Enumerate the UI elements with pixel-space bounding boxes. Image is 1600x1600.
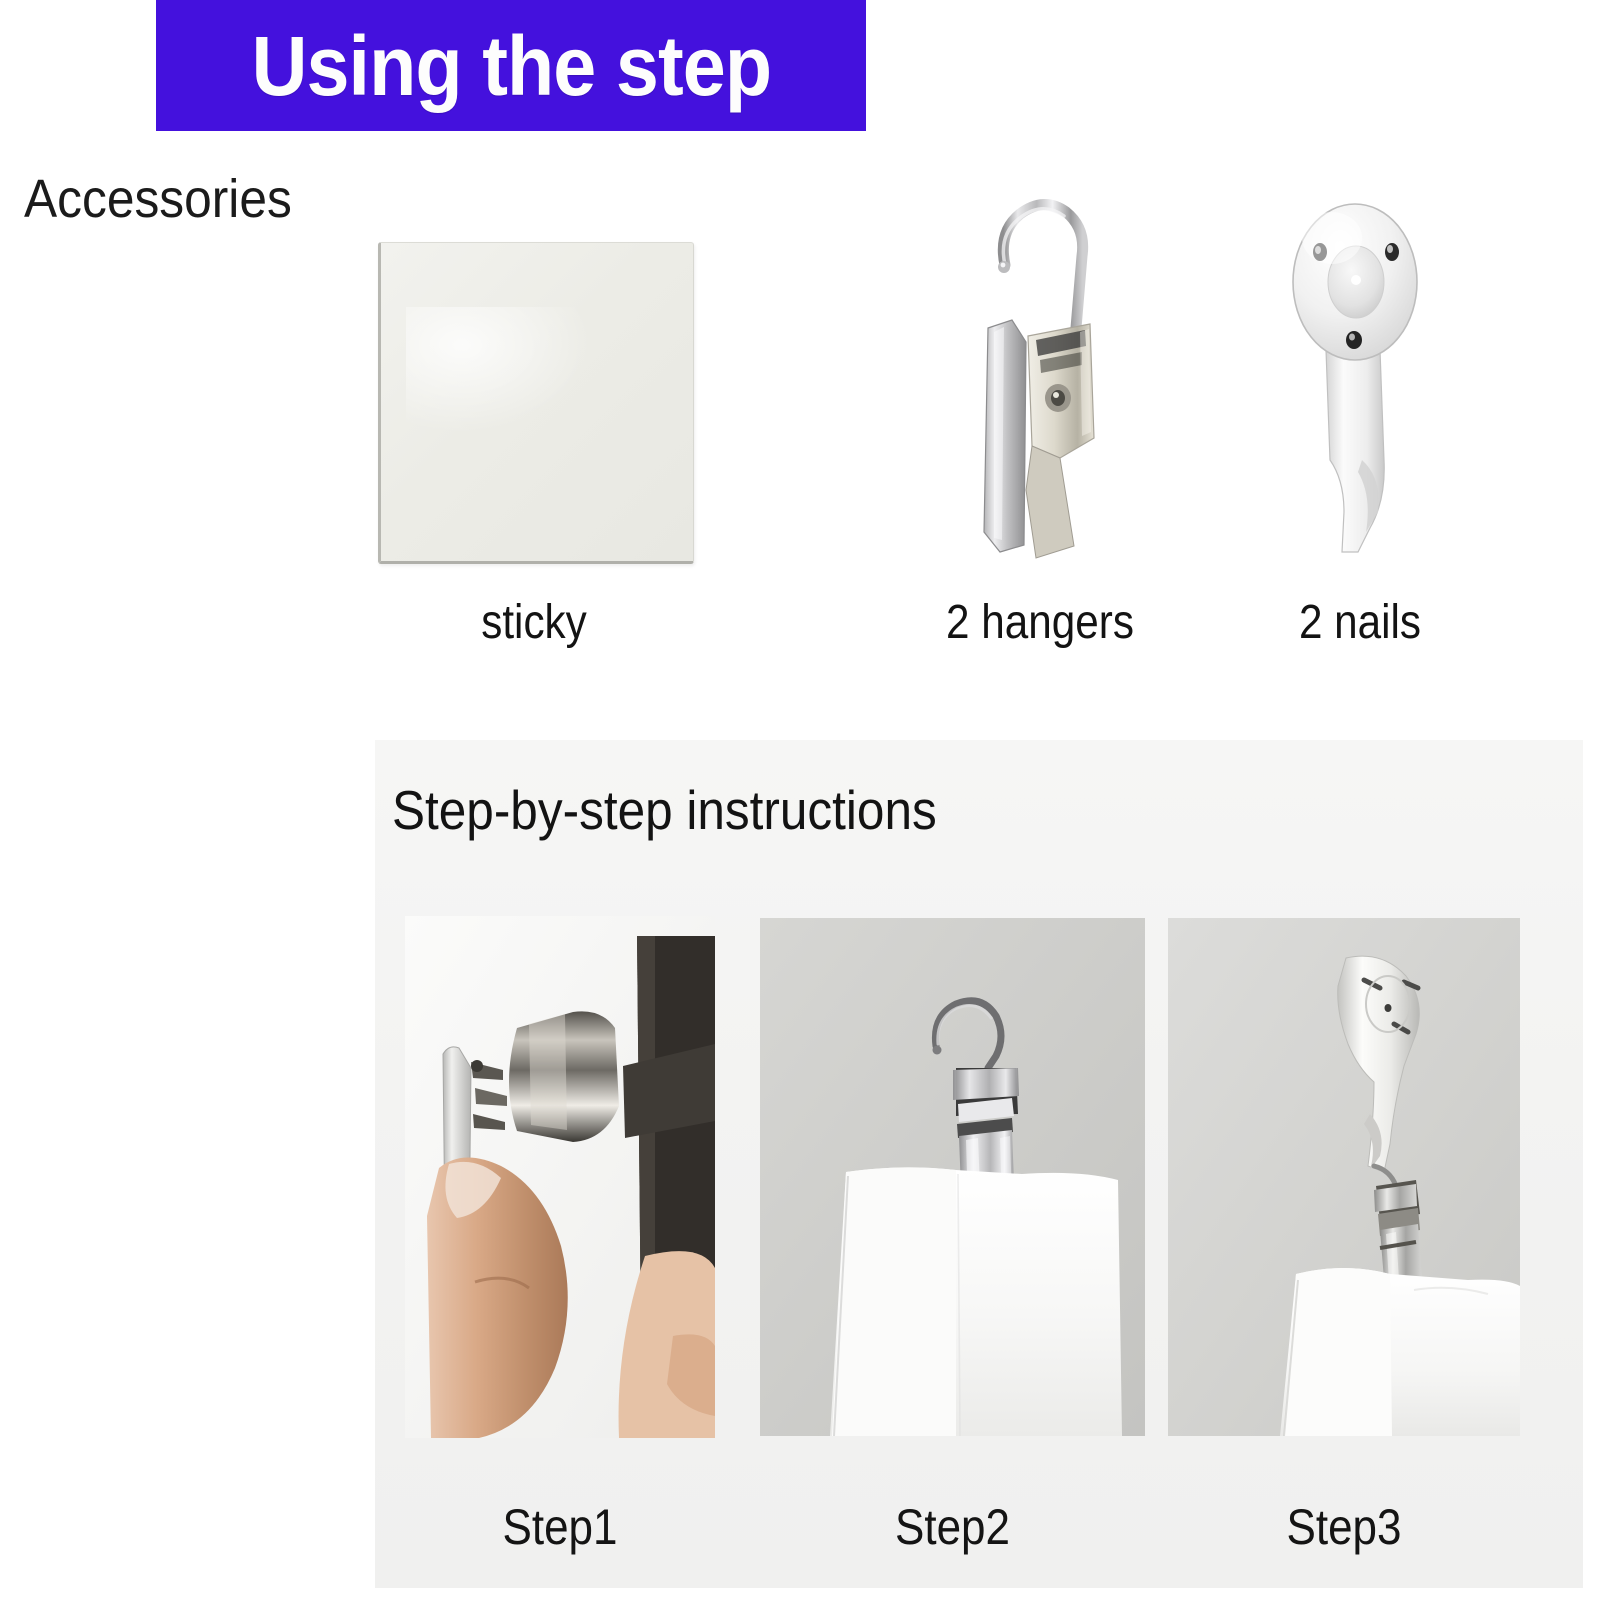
page-title: Using the step xyxy=(251,24,771,108)
accessories-heading: Accessories xyxy=(24,168,292,230)
hanger-clip-icon xyxy=(940,160,1140,560)
sticky-pad-icon xyxy=(378,242,694,564)
accessory-label-nails: 2 nails xyxy=(1259,595,1461,650)
step-label-2: Step2 xyxy=(783,1498,1122,1556)
nail-hook-icon xyxy=(1258,160,1458,560)
step-1-photo xyxy=(405,916,715,1438)
instructions-heading: Step-by-step instructions xyxy=(392,778,937,842)
step-2-photo xyxy=(760,918,1145,1436)
accessory-label-sticky: sticky xyxy=(397,595,672,650)
step-3-photo xyxy=(1168,918,1520,1436)
step-label-3: Step3 xyxy=(1189,1498,1499,1556)
accessory-label-hangers: 2 hangers xyxy=(934,595,1145,650)
step-label-1: Step1 xyxy=(424,1498,697,1556)
title-banner: Using the step xyxy=(156,0,866,131)
